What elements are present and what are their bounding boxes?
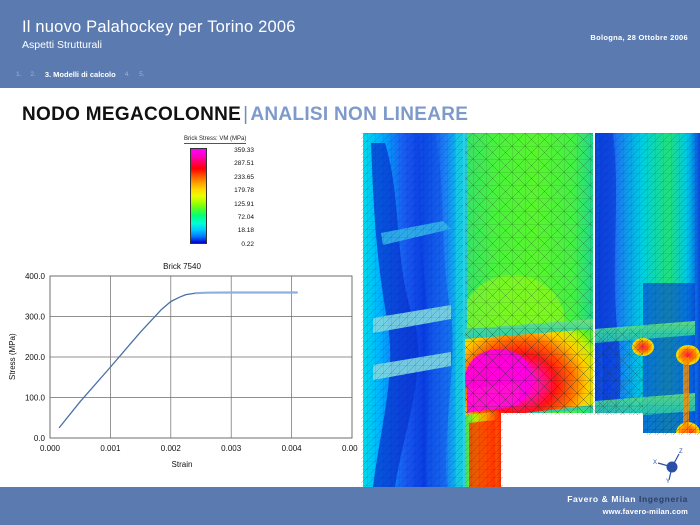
section-navbar: 1. 2. 3. Modelli di calcolo 4. 5. [16,68,145,80]
fe-mesh-svg [343,133,700,487]
chart-ytick-label: 100.0 [25,394,46,403]
legend-color-bar [190,148,207,244]
stress-strain-chart: Brick 7540 Stress (MPa) Strain 0.0100.02… [6,262,358,474]
slide-header: Il nuovo Palahockey per Torino 2006 Aspe… [0,0,700,88]
stress-color-legend: Brick Stress: VM (MPa) 359.33 287.51 233… [184,136,284,246]
chart-xtick-label: 0.001 [100,444,121,453]
company-name-secondary: Ingegneria [639,494,688,504]
page-title-separator: | [241,104,250,125]
nav-item-1[interactable]: 1. [16,71,21,78]
nav-item-3-current[interactable]: 3. Modelli di calcolo [45,70,116,79]
legend-value: 179.78 [208,184,254,197]
chart-series-line [59,292,298,427]
legend-value: 72.04 [208,211,254,224]
nav-item-4[interactable]: 4. [125,71,130,78]
axis-triad-icon: Z X Y [652,447,692,483]
chart-ytick-label: 300.0 [25,313,46,322]
nav-item-2[interactable]: 2. [30,71,35,78]
axis-label-x: X [653,460,657,466]
chart-xtick-label: 0.003 [221,444,242,453]
page-title-secondary: ANALISI NON LINEARE [250,104,468,125]
chart-series-plateau [195,292,298,293]
presentation-date: Bologna, 28 Ottobre 2006 [590,33,688,42]
chart-xtick-label: 0.005 [342,444,358,453]
nav-item-5[interactable]: 5. [139,71,144,78]
axis-label-y: Y [666,479,670,483]
legend-title: Brick Stress: VM (MPa) [184,136,246,144]
chart-xtick-label: 0.004 [282,444,303,453]
legend-value: 359.33 [208,144,254,157]
company-name-primary: Favero & Milan [567,494,636,504]
fe-contour-view: Z X Y [343,133,700,487]
legend-value: 0.22 [208,238,254,251]
chart-ytick-label: 400.0 [25,272,46,281]
chart-xtick-label: 0.002 [161,444,182,453]
chart-ytick-label: 0.0 [34,434,46,443]
slide-root: Il nuovo Palahockey per Torino 2006 Aspe… [0,0,700,525]
company-website[interactable]: www.favero-milan.com [603,507,688,516]
page-title-primary: NODO MEGACOLONNE [22,104,241,125]
chart-ytick-label: 200.0 [25,353,46,362]
legend-value: 233.65 [208,171,254,184]
slide-footer: Favero & Milan Ingegneria www.favero-mil… [0,487,700,525]
legend-value: 287.51 [208,157,254,170]
presentation-subtitle: Aspetti Strutturali [22,39,102,51]
presentation-title: Il nuovo Palahockey per Torino 2006 [22,18,296,37]
chart-xtick-label: 0.000 [40,444,61,453]
company-name: Favero & Milan Ingegneria [567,494,688,504]
page-title: NODO MEGACOLONNE|ANALISI NON LINEARE [22,104,468,126]
legend-value: 18.18 [208,224,254,237]
chart-plot-area: 0.0100.0200.0300.0400.00.0000.0010.0020.… [6,262,358,474]
legend-value: 125.91 [208,198,254,211]
axis-label-z: Z [679,449,683,455]
legend-values: 359.33 287.51 233.65 179.78 125.91 72.04… [208,144,268,251]
